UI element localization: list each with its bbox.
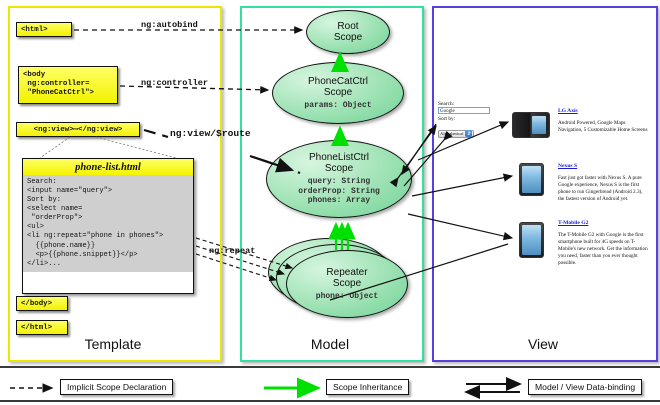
scope-phonelistctrl: PhoneListCtrl Scope query: String orderP… — [266, 140, 412, 218]
scope-root: Root Scope — [306, 10, 390, 54]
scope-phonecatctrl-members: params: Object — [304, 101, 371, 111]
legend-label-implicit: Implicit Scope Declaration — [60, 379, 173, 395]
panel-label-model: Model — [240, 336, 420, 352]
edge-label-ng-controller: ng:controller — [141, 78, 208, 88]
edge-label-ng-view-route: ng:view/$route — [170, 128, 251, 139]
legend-label-databinding: Model / View Data-binding — [528, 379, 642, 395]
phone-thumbnail-t-mobile-g2 — [519, 222, 544, 258]
scope-repeater-title: Repeater Scope — [326, 267, 367, 289]
template-html-open-tag: <html> — [16, 22, 72, 37]
template-snippet-phone-list: phone-list.html Search: <input name="que… — [22, 158, 194, 294]
view-search-form: Search: Google Sort by: Alphabetical ⇵ — [438, 101, 490, 140]
angular-architecture-diagram: Template Model View <html> <body ng:cont… — [0, 0, 660, 405]
template-body-open-tag: <body ng:controller= "PhoneCatCtrl"> — [18, 66, 118, 104]
view-sort-label: Sort by: — [438, 116, 490, 122]
phone-name-nexus-s[interactable]: Nexus S — [558, 163, 577, 169]
chevron-updown-icon: ⇵ — [465, 130, 472, 137]
scope-root-title: Root Scope — [334, 21, 362, 43]
phone-screen — [532, 116, 546, 134]
scope-repeater-members: phone: Object — [316, 292, 378, 302]
phone-desc-lg-axis: Android Powered, Google Maps Navigation,… — [558, 120, 650, 134]
view-sort-select-value: Alphabetical — [440, 131, 463, 136]
template-html-close-tag: </html> — [16, 320, 68, 335]
phone-desc-nexus-s: Fast just got faster with Nexus S. A pur… — [558, 175, 650, 203]
phone-screen — [522, 225, 541, 255]
scope-repeater: Repeater Scope phone: Object — [286, 250, 408, 318]
scope-phonecatctrl: PhoneCatCtrl Scope params: Object — [272, 62, 404, 124]
phone-desc-t-mobile-g2: The T-Mobile G2 with Google is the first… — [558, 232, 650, 267]
panel-label-template: Template — [8, 336, 218, 352]
legend-label-inheritance: Scope Inheritance — [326, 379, 409, 395]
legend-divider-top — [0, 366, 660, 368]
edge-label-ng-autobind: ng:autobind — [141, 20, 198, 30]
phone-name-lg-axis[interactable]: LG Axis — [558, 108, 578, 114]
snippet-code: Search: <input name="query"> Sort by: <s… — [23, 175, 193, 272]
legend: Implicit Scope Declaration Scope Inherit… — [0, 370, 660, 405]
panel-label-view: View — [432, 336, 654, 352]
view-search-input[interactable]: Google — [438, 107, 490, 114]
snippet-title: phone-list.html — [23, 159, 193, 175]
edge-label-ng-repeat: ng:repeat — [209, 246, 255, 256]
view-sort-select[interactable]: Alphabetical ⇵ — [438, 130, 474, 138]
phone-screen — [522, 166, 541, 193]
scope-phonelistctrl-title: PhoneListCtrl Scope — [309, 152, 369, 174]
template-body-close-tag: </body> — [16, 296, 68, 311]
template-ng-view-tag: <ng:view>▭</ng:view> — [16, 122, 140, 137]
phone-thumbnail-lg-axis — [512, 112, 550, 138]
phone-name-t-mobile-g2[interactable]: T-Mobile G2 — [558, 220, 588, 226]
scope-phonecatctrl-title: PhoneCatCtrl Scope — [308, 76, 368, 98]
phone-thumbnail-nexus-s — [519, 163, 544, 196]
scope-phonelistctrl-members: query: String orderProp: String phones: … — [298, 177, 380, 206]
